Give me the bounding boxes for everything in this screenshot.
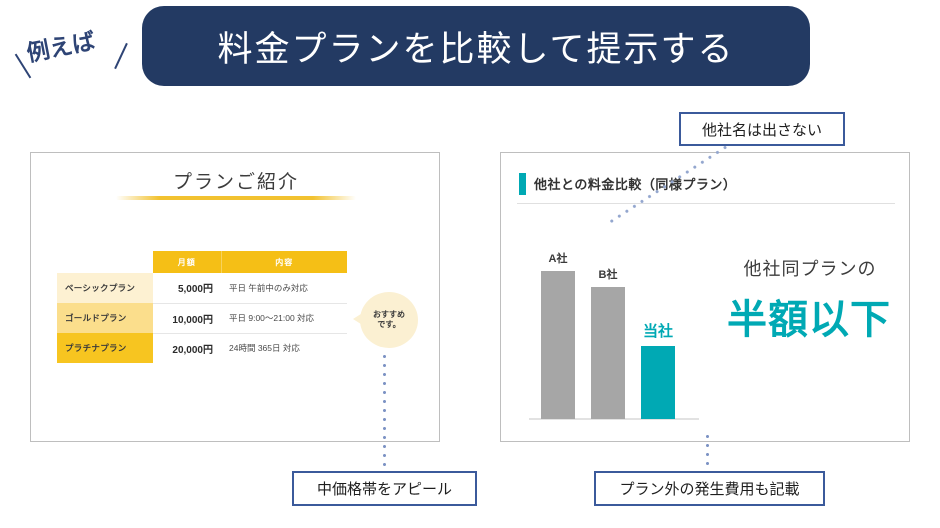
connector-dotted-left (383, 352, 386, 470)
accent-bar-icon (519, 173, 526, 195)
cell-price: 5,000円 (153, 273, 221, 303)
cell-detail: 平日 9:00〜21:00 対応 (221, 303, 347, 333)
header-price: 月額 (153, 251, 221, 273)
comparison-card-title: 他社との料金比較（同様プラン） (534, 174, 736, 193)
headline-main: 半額以下 (709, 287, 909, 345)
price-comparison-chart: A社 B社 当社 (525, 215, 705, 435)
bar-label-ours: 当社 (641, 320, 675, 341)
plan-card-title: プランご紹介 (31, 167, 441, 194)
header-detail: 内容 (221, 251, 347, 273)
cell-plan-name: ベーシックプラン (57, 273, 153, 303)
cell-price: 10,000円 (153, 303, 221, 333)
bar-our-company: 当社 (641, 346, 675, 419)
table-header-row: 月額 内容 (57, 251, 347, 273)
slash-right-icon (114, 43, 128, 69)
header-blank (57, 251, 153, 273)
comparison-card: 他社との料金比較（同様プラン） A社 B社 当社 他社同プランの 半額以下 ※別… (500, 152, 910, 442)
callout-extra-costs: プラン外の発生費用も記載 (594, 471, 825, 506)
bar-company-b: B社 (591, 287, 625, 419)
cell-plan-name: プラチナプラン (57, 333, 153, 363)
table-row: プラチナプラン 20,000円 24時間 365日 対応 (57, 333, 347, 363)
page-title: 料金プランを比較して提示する (218, 21, 735, 72)
cell-detail: 平日 午前中のみ対応 (221, 273, 347, 303)
cell-price: 20,000円 (153, 333, 221, 363)
bar-label-a: A社 (541, 250, 575, 266)
eyebrow-label: 例えば (23, 22, 97, 69)
recommend-bubble: おすすめ です。 (360, 292, 418, 348)
table-row: ゴールドプラン 10,000円 平日 9:00〜21:00 対応 (57, 303, 347, 333)
card-divider (517, 203, 895, 204)
slide-canvas: 例えば 料金プランを比較して提示する プランご紹介 月額 内容 ベーシックプラン… (0, 0, 940, 528)
title-underline (116, 196, 356, 200)
connector-dotted-right (706, 432, 709, 470)
bar-company-a: A社 (541, 271, 575, 419)
callout-no-competitor-names: 他社名は出さない (679, 112, 845, 146)
cell-detail: 24時間 365日 対応 (221, 333, 347, 363)
pricing-table: 月額 内容 ベーシックプラン 5,000円 平日 午前中のみ対応 ゴールドプラン… (57, 251, 347, 363)
bubble-line-1: おすすめ (373, 310, 405, 320)
header-banner: 料金プランを比較して提示する (142, 6, 810, 86)
bar-label-b: B社 (591, 266, 625, 282)
callout-mid-price-appeal: 中価格帯をアピール (292, 471, 477, 506)
headline-subtext: 他社同プランの (715, 255, 905, 281)
eyebrow-decoration: 例えば (8, 12, 136, 84)
cell-plan-name: ゴールドプラン (57, 303, 153, 333)
bubble-line-2: です。 (377, 320, 400, 330)
table-row: ベーシックプラン 5,000円 平日 午前中のみ対応 (57, 273, 347, 303)
